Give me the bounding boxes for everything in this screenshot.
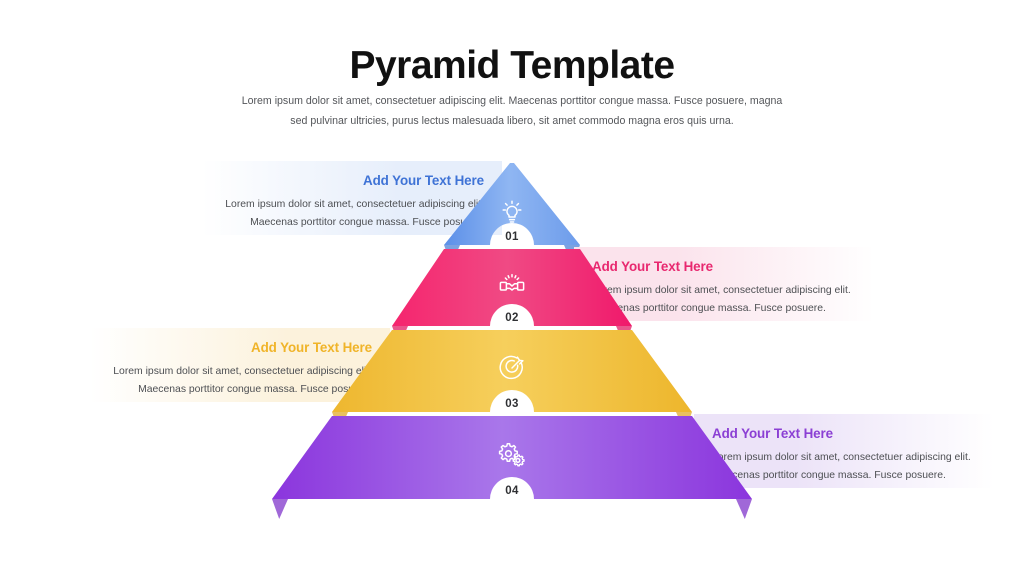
pyramid-template-slide: Pyramid Template Lorem ipsum dolor sit a…	[0, 0, 1024, 576]
level-number-badge-04: 04	[482, 485, 542, 497]
gear-icon	[495, 438, 529, 472]
